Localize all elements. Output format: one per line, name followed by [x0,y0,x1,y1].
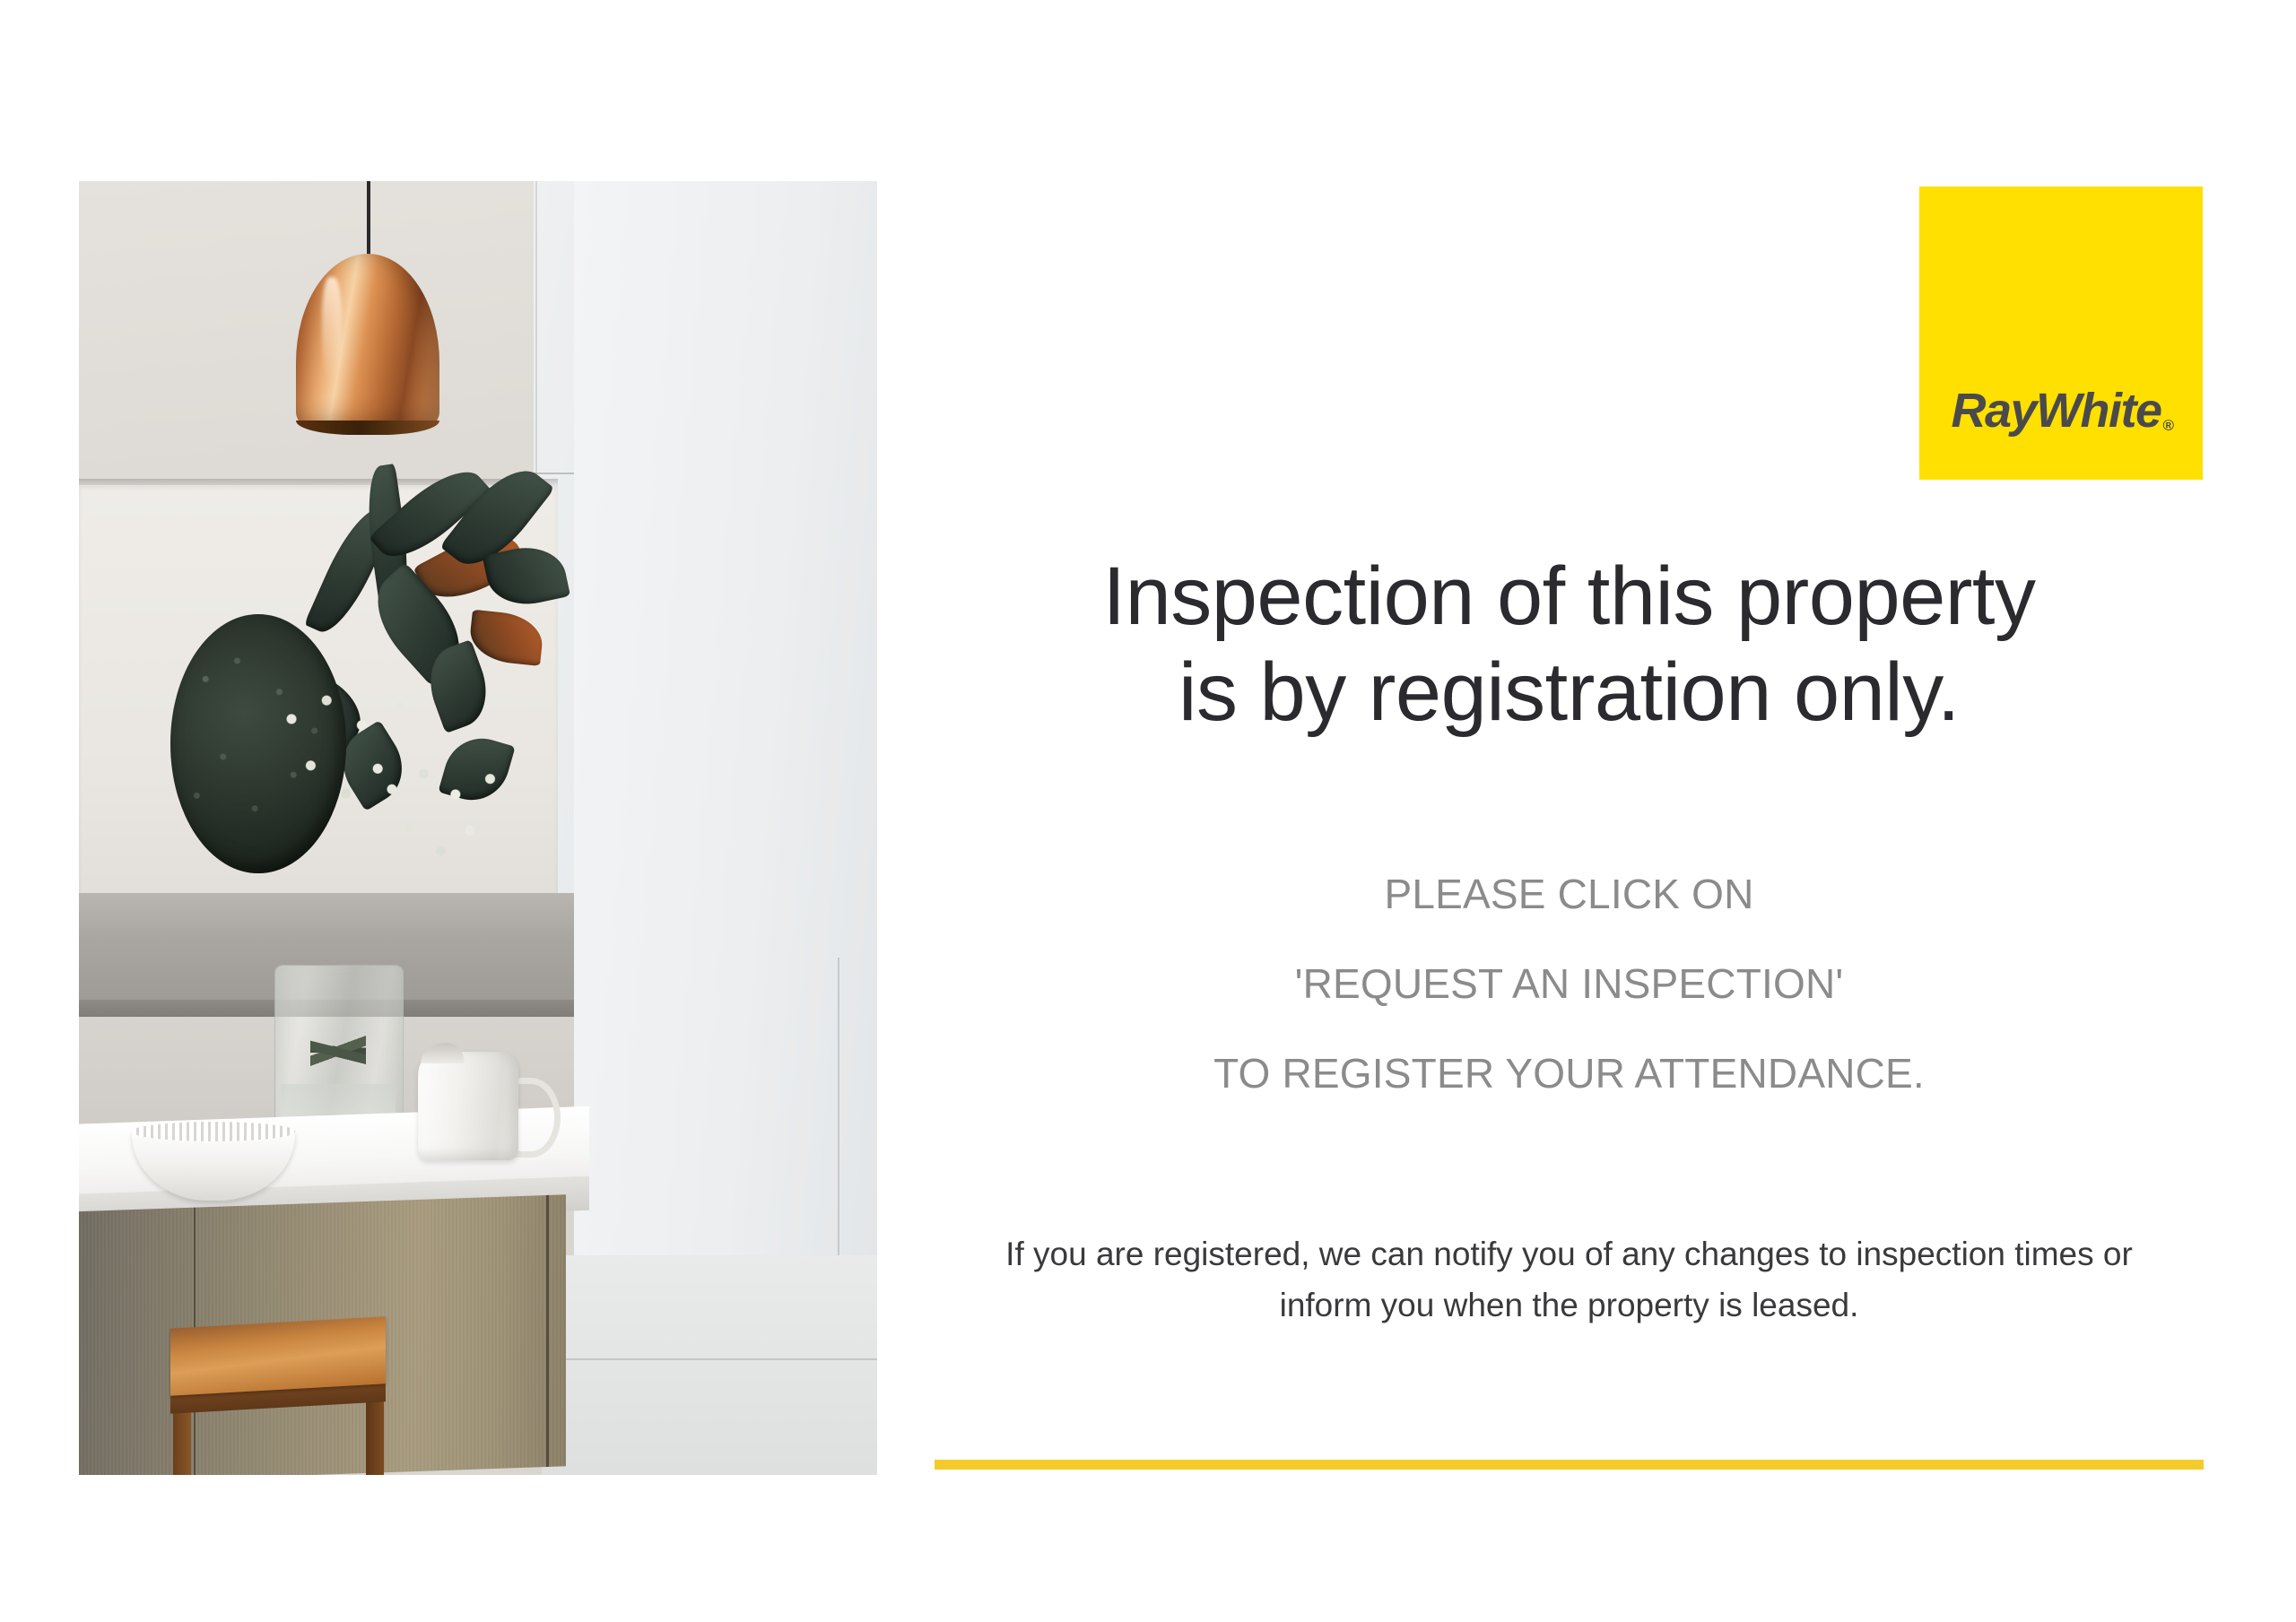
floor-tile-line [542,1358,877,1360]
brand-name: RayWhite [1951,384,2161,438]
registered-trademark-icon: ® [2163,417,2173,434]
floor [542,1255,877,1475]
white-berries [366,750,509,880]
lamp-highlight [322,277,341,380]
ceramic-jug [418,1052,517,1160]
page-root: RayWhite® Inspection of this property is… [0,0,2296,1622]
registration-note: If you are registered, we can notify you… [935,1228,2204,1331]
instruction-line-2: 'REQUEST AN INSPECTION' [970,959,2168,1008]
instruction-line-3: TO REGISTER YOUR ATTENDANCE. [970,1049,2168,1097]
headline-line-1: Inspection of this property [970,549,2168,645]
content-column: RayWhite® Inspection of this property is… [935,0,2204,1622]
tall-panel-seam [838,958,839,1255]
stool-leg [366,1400,384,1475]
photo-scene [79,181,877,1475]
page-title: Inspection of this property is by regist… [970,549,2168,740]
raywhite-wordmark: RayWhite® [1919,383,2203,438]
accent-divider [935,1460,2204,1470]
tall-white-panel [574,181,877,1255]
property-photo [79,181,877,1475]
island-right-edge [547,1195,550,1467]
instruction-line-1: PLEASE CLICK ON [970,870,2168,918]
pendant-cord [367,181,370,261]
raywhite-logo: RayWhite® [1919,186,2203,480]
instructions-block: PLEASE CLICK ON 'REQUEST AN INSPECTION' … [970,870,2168,1097]
bowl-beaded-rim [132,1122,295,1141]
note-line-2: inform you when the property is leased. [935,1279,2204,1331]
headline-line-2: is by registration only. [970,645,2168,741]
stool-seat [170,1316,386,1395]
note-line-1: If you are registered, we can notify you… [935,1228,2204,1279]
